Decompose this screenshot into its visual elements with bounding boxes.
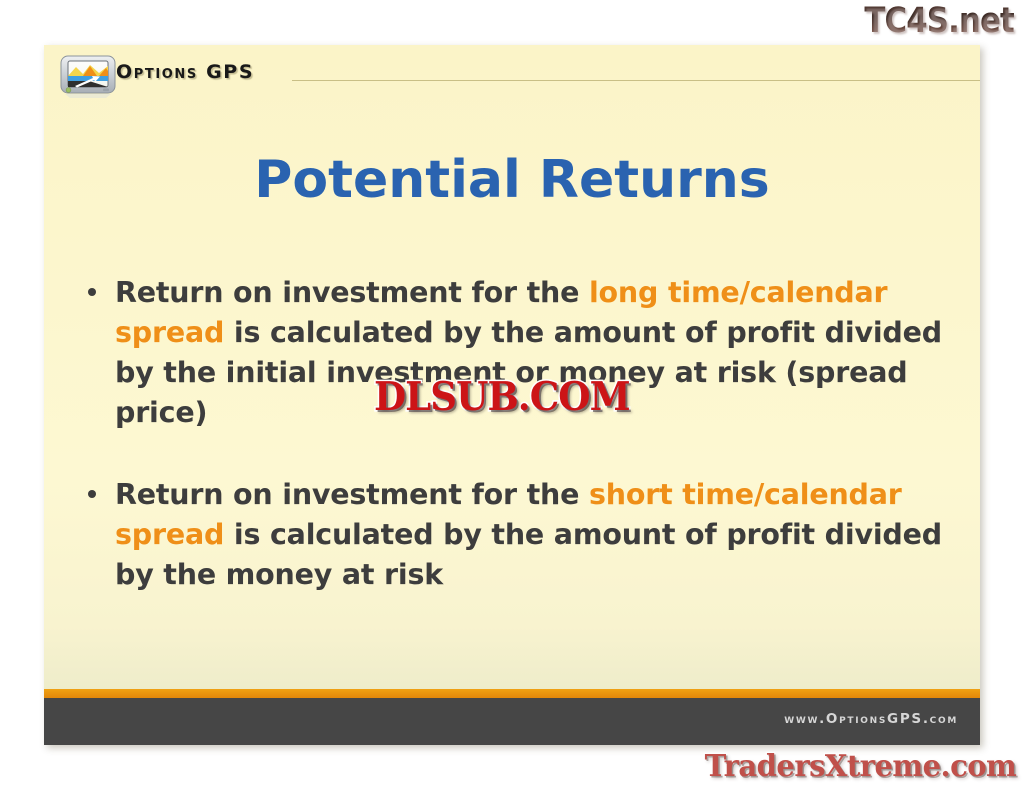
bullet-list: Return on investment for the long time/c… — [68, 273, 968, 637]
bullet-marker-icon — [88, 490, 96, 498]
header-divider — [292, 80, 980, 81]
options-gps-wordmark: Options GPS — [116, 61, 254, 83]
bullet-highlight-a: long time/ — [589, 276, 750, 309]
footer-url-label: www.OptionsGPS.com — [784, 711, 958, 727]
bullet-highlight-a: short time/ — [589, 478, 764, 511]
slide-header: Options GPS — [44, 45, 980, 107]
bullet-text-tail: is calculated by the amount of profit di… — [115, 518, 942, 591]
slide-title: Potential Returns — [44, 150, 980, 210]
bullet-marker-icon — [88, 288, 96, 296]
presentation-slide: Options GPS Potential Returns Return on … — [44, 45, 980, 745]
bullet-text-lead: Return on investment for the — [115, 478, 589, 511]
dlsub-watermark: DLSUB.COM — [374, 374, 630, 420]
bullet-text-lead: Return on investment for the — [115, 276, 589, 309]
gps-device-icon — [59, 54, 117, 98]
screenshot-canvas: TC4S.net TC4S.net — [0, 0, 1024, 791]
bullet-item: Return on investment for the short time/… — [68, 475, 968, 595]
tradersxtreme-brand-label: TradersXtreme.com — [704, 749, 1016, 784]
footer-accent-stripe — [44, 689, 980, 698]
tc4s-brand-label: TC4S.net — [865, 1, 1014, 41]
slide-footer-bar: www.OptionsGPS.com — [44, 698, 980, 745]
